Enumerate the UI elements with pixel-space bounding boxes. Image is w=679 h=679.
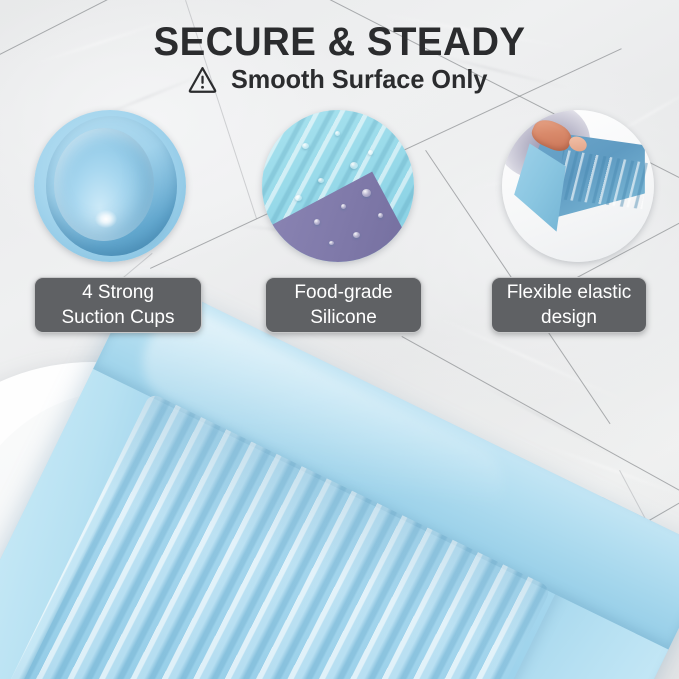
subtitle-text: Smooth Surface Only: [231, 64, 487, 95]
feature-label-food-grade-silicone: Food-grade Silicone: [265, 277, 422, 333]
feature-label-line2: Suction Cups: [61, 305, 174, 330]
feature-image-flexible-elastic: [502, 110, 654, 262]
product-marketing-image: SECURE & STEADY Smooth Surface Only: [0, 0, 679, 679]
feature-label-line1: 4 Strong: [82, 280, 154, 305]
page-title: SECURE & STEADY: [14, 20, 666, 65]
feature-label-line1: Food-grade: [294, 280, 392, 305]
feature-label-line2: Silicone: [310, 305, 377, 330]
feature-label-flexible-elastic: Flexible elastic design: [491, 277, 647, 333]
warning-triangle-icon: [187, 64, 218, 95]
subtitle-row: Smooth Surface Only: [0, 64, 679, 95]
feature-label-suction-cups: 4 Strong Suction Cups: [34, 277, 202, 333]
feature-image-suction-cups: [34, 110, 186, 262]
feature-label-line2: design: [541, 305, 597, 330]
feature-label-line1: Flexible elastic: [507, 280, 632, 305]
feature-image-food-grade-silicone: [262, 110, 414, 262]
